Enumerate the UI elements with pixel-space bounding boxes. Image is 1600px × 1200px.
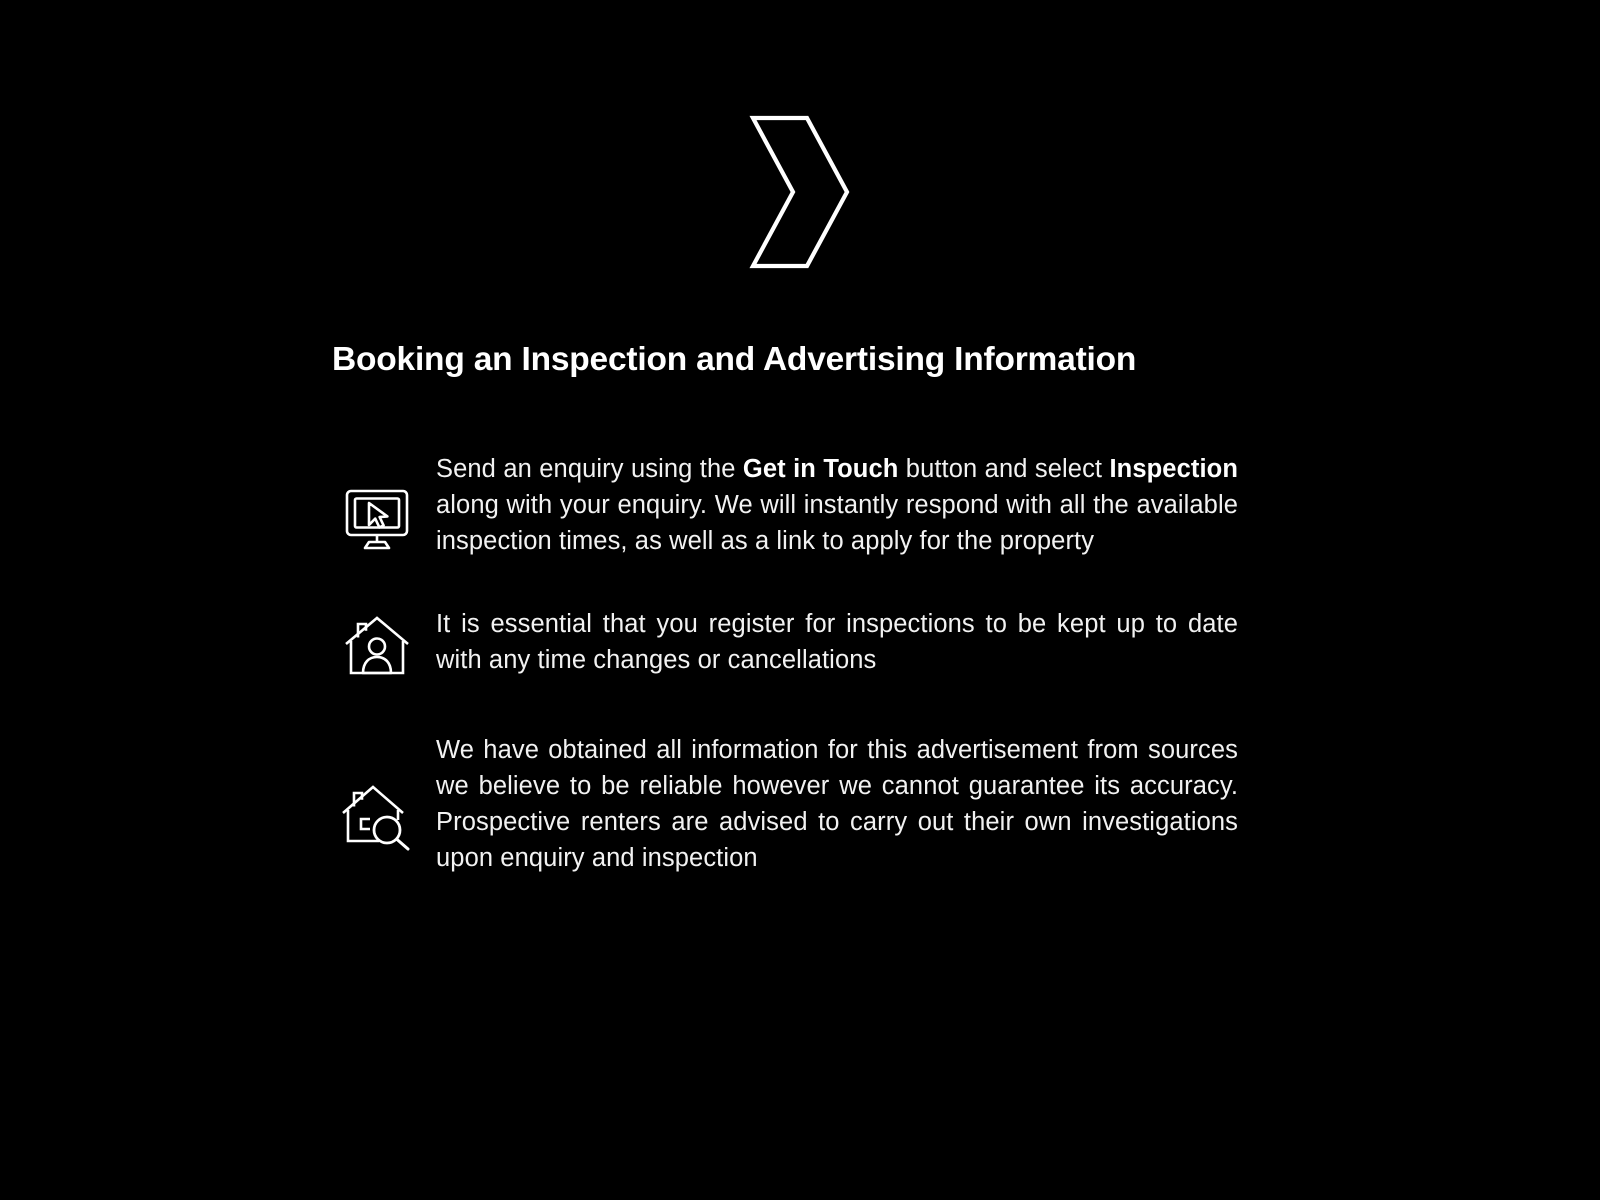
monitor-cursor-icon [342,484,412,554]
item-text-part: along with your enquiry. We will instant… [436,491,1238,555]
item-text-part: Send an enquiry using the [436,455,743,483]
item-text-part: button and select [898,455,1109,483]
item-text-part: It is essential that you register for in… [436,610,1238,674]
list-item: We have obtained all information for thi… [318,733,1238,876]
list-item: It is essential that you register for in… [318,607,1238,681]
item-text: Send an enquiry using the Get in Touch b… [436,452,1238,559]
item-icon-wrapper [318,611,436,681]
page-title: Booking an Inspection and Advertising In… [332,340,1252,380]
chevron-right-outline-icon [745,112,855,272]
item-text-part: We have obtained all information for thi… [436,736,1238,871]
item-icon-wrapper [318,484,436,554]
item-text-part-bold: Get in Touch [743,455,899,483]
brand-logo [0,112,1600,272]
list-item: Send an enquiry using the Get in Touch b… [318,452,1238,559]
slide-root: Booking an Inspection and Advertising In… [0,0,1600,1200]
item-text: We have obtained all information for thi… [436,733,1238,876]
house-person-icon [342,611,412,681]
item-icon-wrapper [318,781,436,853]
info-item-list: Send an enquiry using the Get in Touch b… [318,452,1238,877]
item-text-part-bold: Inspection [1109,455,1238,483]
item-text: It is essential that you register for in… [436,607,1238,679]
house-magnifier-icon [339,781,415,853]
